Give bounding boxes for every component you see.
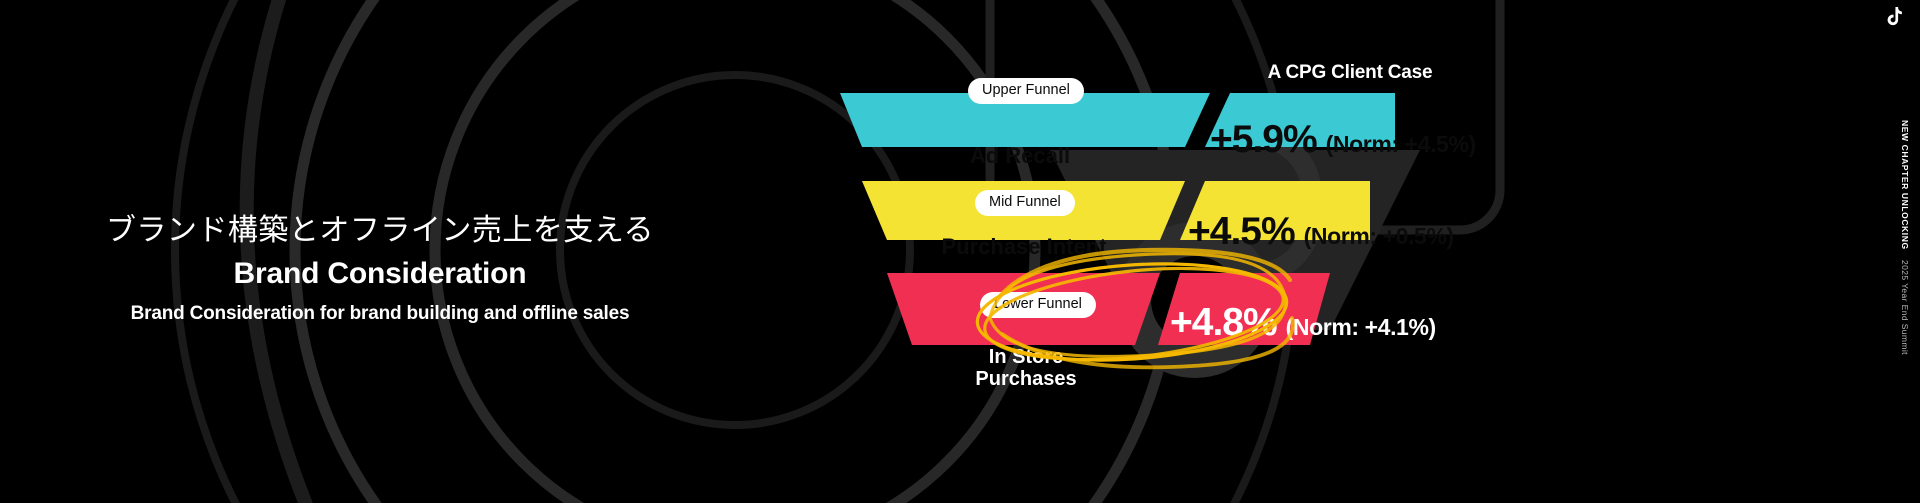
tiktok-logo-icon (1886, 7, 1904, 32)
event-name: 2025 Year End Summit (1900, 260, 1910, 355)
event-vertical-rail: NEW CHAPTER UNLOCKING 2025 Year End Summ… (1900, 120, 1910, 355)
japanese-headline: ブランド構築とオフライン売上を支える (0, 212, 760, 250)
english-subtitle: Brand Consideration for brand building a… (0, 302, 760, 327)
stage-value-upper-lift: +5.9% (1210, 118, 1317, 162)
stage-label-ad-recall: Ad Recall (840, 144, 1200, 169)
stage-value-mid: +4.5% (Norm: +0.5%) (1188, 210, 1454, 254)
event-tagline: NEW CHAPTER UNLOCKING (1900, 120, 1910, 250)
stage-value-upper-norm: (Norm: +4.5%) (1326, 131, 1476, 158)
english-headline: Brand Consideration (0, 254, 760, 293)
stage-label-in-store-purchases: In Store Purchases (850, 346, 1202, 391)
stage-value-lower-norm: (Norm: +4.1%) (1286, 314, 1436, 341)
stage-label-line-1: In Store (850, 346, 1202, 368)
chart-title: A CPG Client Case (1140, 62, 1560, 84)
stage-label-line-2: Purchases (850, 368, 1202, 390)
stage-pill-lower-funnel: Lower Funnel (980, 292, 1096, 318)
stage-value-lower: +4.8% (Norm: +4.1%) (1170, 301, 1436, 345)
stage-value-upper: +5.9% (Norm: +4.5%) (1210, 118, 1476, 162)
stage-pill-mid-funnel: Mid Funnel (975, 190, 1075, 216)
stage-value-mid-norm: (Norm: +0.5%) (1304, 223, 1454, 250)
stage-value-mid-lift: +4.5% (1188, 210, 1295, 254)
stage-pill-upper-funnel: Upper Funnel (968, 78, 1084, 104)
stage-label-purchase-intent: Purchase Intent (840, 235, 1208, 260)
funnel-chart: A CPG Client Case Upper Funnel Mid Funne… (840, 0, 1640, 503)
left-copy-block: ブランド構築とオフライン売上を支える Brand Consideration B… (0, 212, 760, 326)
stage-value-lower-lift: +4.8% (1170, 301, 1277, 345)
